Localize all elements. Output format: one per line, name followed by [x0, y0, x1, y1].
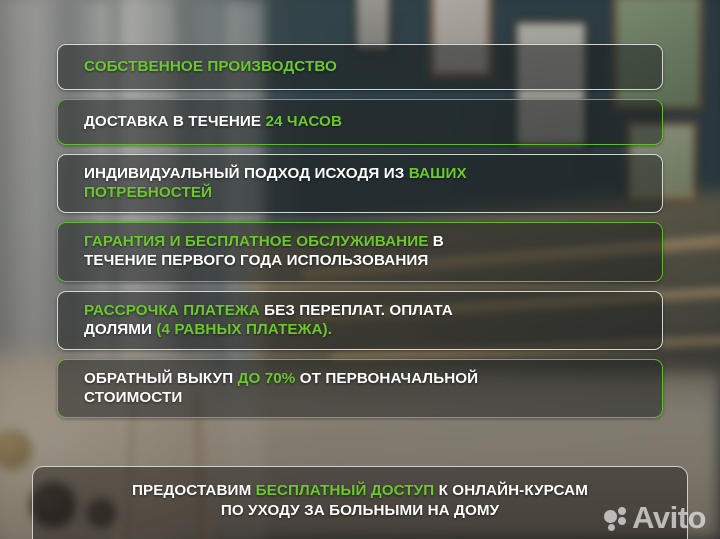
- benefit-card-own-production[interactable]: СОБСТВЕННОЕ ПРОИЗВОДСТВО: [57, 44, 663, 90]
- accent-text: БЕСПЛАТНЫЙ ДОСТУП: [256, 482, 435, 499]
- benefit-card-delivery[interactable]: ДОСТАВКА В ТЕЧЕНИЕ 24 ЧАСОВ: [57, 99, 663, 145]
- benefit-card-buyback[interactable]: ОБРАТНЫЙ ВЫКУП ДО 70% ОТ ПЕРВОНАЧАЛЬНОЙС…: [57, 359, 663, 418]
- accent-text: ГАРАНТИЯ И БЕСПЛАТНОЕ ОБСЛУЖИВАНИЕ: [84, 233, 428, 250]
- benefit-card-individual-approach[interactable]: ИНДИВИДУАЛЬНЫЙ ПОДХОД ИСХОДЯ ИЗ ВАШИХПОТ…: [57, 154, 663, 213]
- accent-text: (4 РАВНЫХ ПЛАТЕЖА).: [156, 321, 332, 338]
- accent-text: СОБСТВЕННОЕ ПРОИЗВОДСТВО: [84, 58, 337, 75]
- benefit-card-text: СОБСТВЕННОЕ ПРОИЗВОДСТВО: [84, 57, 337, 76]
- accent-text: ВАШИХ: [409, 165, 467, 182]
- benefit-card-warranty[interactable]: ГАРАНТИЯ И БЕСПЛАТНОЕ ОБСЛУЖИВАНИЕ ВТЕЧЕ…: [57, 222, 663, 281]
- benefit-card-text: ДОСТАВКА В ТЕЧЕНИЕ 24 ЧАСОВ: [84, 112, 342, 131]
- benefit-card-text: ИНДИВИДУАЛЬНЫЙ ПОДХОД ИСХОДЯ ИЗ ВАШИХПОТ…: [84, 164, 467, 202]
- accent-text: ДО 70%: [238, 370, 296, 387]
- benefit-card-text: ОБРАТНЫЙ ВЫКУП ДО 70% ОТ ПЕРВОНАЧАЛЬНОЙС…: [84, 369, 478, 407]
- benefit-card-online-courses[interactable]: ПРЕДОСТАВИМ БЕСПЛАТНЫЙ ДОСТУП К ОНЛАЙН-К…: [32, 466, 688, 539]
- promo-image: СОБСТВЕННОЕ ПРОИЗВОДСТВОДОСТАВКА В ТЕЧЕН…: [0, 0, 720, 539]
- accent-text: ПОТРЕБНОСТЕЙ: [84, 184, 212, 201]
- benefit-card-installment[interactable]: РАССРОЧКА ПЛАТЕЖА БЕЗ ПЕРЕПЛАТ. ОПЛАТАДО…: [57, 291, 663, 350]
- benefit-card-text: ГАРАНТИЯ И БЕСПЛАТНОЕ ОБСЛУЖИВАНИЕ ВТЕЧЕ…: [84, 232, 444, 270]
- benefits-list: СОБСТВЕННОЕ ПРОИЗВОДСТВОДОСТАВКА В ТЕЧЕН…: [57, 44, 663, 427]
- accent-text: 24 ЧАСОВ: [265, 113, 342, 130]
- benefit-card-text: РАССРОЧКА ПЛАТЕЖА БЕЗ ПЕРЕПЛАТ. ОПЛАТАДО…: [84, 301, 453, 339]
- benefit-card-text: ПРЕДОСТАВИМ БЕСПЛАТНЫЙ ДОСТУП К ОНЛАЙН-К…: [132, 481, 588, 521]
- accent-text: РАССРОЧКА ПЛАТЕЖА: [84, 302, 260, 319]
